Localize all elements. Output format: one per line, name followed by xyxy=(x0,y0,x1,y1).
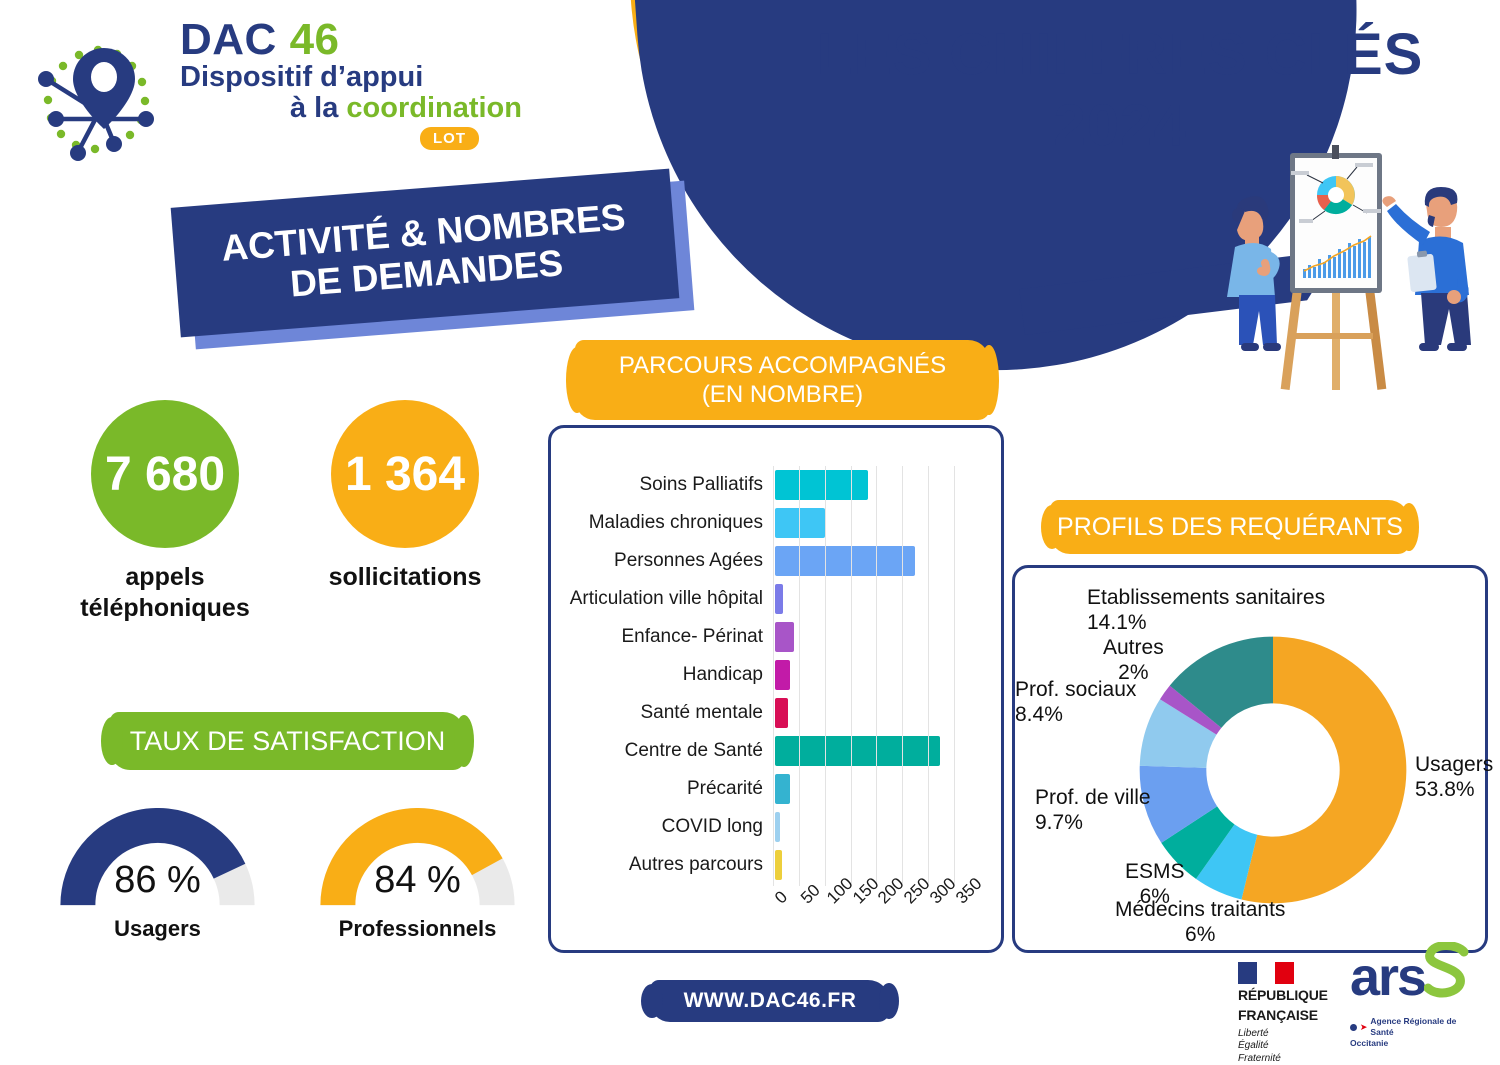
french-flag-icon xyxy=(1238,962,1294,984)
donut-label-value: 8.4% xyxy=(1015,703,1136,728)
bar-row: Enfance- Périnat xyxy=(561,618,959,656)
bar-fill xyxy=(775,546,915,576)
kpi-appels-value-circle: 7 680 xyxy=(91,400,239,548)
bar-category-label: Santé mentale xyxy=(561,702,775,724)
kpi-sollicitations-value: 1 364 xyxy=(345,447,465,502)
ars-arrow-icon: ➤ xyxy=(1360,1022,1368,1033)
satisfaction-banner-label: TAUX DE SATISFACTION xyxy=(130,726,446,757)
bar-fill xyxy=(775,736,940,766)
bar-row: Personnes Agées xyxy=(561,542,959,580)
x-axis-tick-label: 0 xyxy=(771,887,792,908)
kpi-appels-value: 7 680 xyxy=(105,447,225,502)
rf-motto: Liberté Égalité Fraternité xyxy=(1238,1028,1333,1065)
kpi-appels-caption-line-1: appels xyxy=(60,562,270,593)
bar-category-label: Articulation ville hôpital xyxy=(561,588,775,610)
logo-line-2: Dispositif d’appui xyxy=(180,62,540,93)
donut-label: Prof. de ville9.7% xyxy=(1035,786,1151,836)
gauge-usagers-label: Usagers xyxy=(60,916,255,942)
bar-category-label: Enfance- Périnat xyxy=(561,626,775,648)
kpi-sollicitations: 1 364 sollicitations xyxy=(300,400,510,593)
donut-label-value: 6% xyxy=(1115,923,1285,948)
bar-track xyxy=(775,622,959,652)
bar-fill xyxy=(775,584,783,614)
bar-track xyxy=(775,584,959,614)
donut-label: Usagers53.8% xyxy=(1415,753,1493,803)
bar-row: Handicap xyxy=(561,656,959,694)
ars-subtitle-line-1: Agence Régionale de Santé xyxy=(1370,1016,1480,1038)
parcours-bar-chart: Soins PalliatifsMaladies chroniquesPerso… xyxy=(561,466,959,884)
kpi-sollicitations-caption-line-1: sollicitations xyxy=(300,562,510,593)
donut-label-value: 53.8% xyxy=(1415,778,1493,803)
profils-chart-panel: Usagers53.8%Médecins traitants6%ESMS6%Pr… xyxy=(1012,565,1488,953)
x-axis-tick-label: 50 xyxy=(797,881,825,909)
logo-lot-badge: LOT xyxy=(420,127,479,150)
satisfaction-banner: TAUX DE SATISFACTION xyxy=(110,712,465,770)
donut-label-value: 14.1% xyxy=(1087,611,1325,636)
bar-row: Soins Palliatifs xyxy=(561,466,959,504)
bar-track xyxy=(775,812,959,842)
kpi-appels-caption: appels téléphoniques xyxy=(60,562,270,623)
bar-track xyxy=(775,508,959,538)
ars-logo: ars ➤ Agence Régionale de Santé Occitani… xyxy=(1350,960,1480,1049)
donut-label-value: 6% xyxy=(1125,885,1185,910)
logo-coordination-text: coordination xyxy=(346,92,522,124)
bar-row: Articulation ville hôpital xyxy=(561,580,959,618)
donut-label-name: Autres xyxy=(1103,636,1164,661)
kpi-sollicitations-caption: sollicitations xyxy=(300,562,510,593)
bar-track xyxy=(775,698,959,728)
bar-category-label: Handicap xyxy=(561,664,775,686)
bar-row: Maladies chroniques xyxy=(561,504,959,542)
logo-line-1: DAC 46 xyxy=(180,18,540,62)
bar-fill xyxy=(775,812,780,842)
bar-track xyxy=(775,660,959,690)
rf-motto-fraternite: Fraternité xyxy=(1238,1053,1333,1065)
bar-row: Précarité xyxy=(561,770,959,808)
donut-label: Autres2% xyxy=(1103,636,1164,686)
gauge-professionnels: 84 % Professionnels xyxy=(320,808,515,942)
gauge-usagers: 86 % Usagers xyxy=(60,808,255,942)
parcours-banner: PARCOURS ACCOMPAGNÉS (EN NOMBRE) xyxy=(575,340,990,420)
logo-line-3: à la coordination xyxy=(180,93,540,124)
activity-banner-label: ACTIVITÉ & NOMBRES DE DEMANDES xyxy=(220,196,630,310)
donut-label: Etablissements sanitaires14.1% xyxy=(1087,586,1325,636)
republique-francaise-logo: RÉPUBLIQUE FRANÇAISE Liberté Égalité Fra… xyxy=(1238,962,1333,1065)
bar-fill xyxy=(775,774,790,804)
logo-dac-text: DAC xyxy=(180,15,277,64)
website-url-badge[interactable]: WWW.DAC46.FR xyxy=(650,980,890,1022)
profils-banner-label: PROFILS DES REQUÉRANTS xyxy=(1057,513,1403,542)
donut-label-value: 9.7% xyxy=(1035,811,1151,836)
bar-fill xyxy=(775,622,794,652)
rf-name-line-1: RÉPUBLIQUE xyxy=(1238,988,1333,1004)
parcours-chart-x-axis: 050100150200250300350 xyxy=(773,890,959,945)
bar-fill xyxy=(775,508,825,538)
people-presenting-chart-illustration xyxy=(1195,145,1495,395)
bar-track xyxy=(775,546,959,576)
bar-row: Santé mentale xyxy=(561,694,959,732)
donut-label: ESMS6% xyxy=(1125,860,1185,910)
rf-name-line-2: FRANÇAISE xyxy=(1238,1008,1333,1024)
bar-category-label: Autres parcours xyxy=(561,854,775,876)
parcours-banner-line-2: (EN NOMBRE) xyxy=(619,380,946,409)
ars-s-glyph-icon xyxy=(1424,942,1470,1004)
bar-track xyxy=(775,774,959,804)
bar-category-label: Maladies chroniques xyxy=(561,512,775,534)
gauge-professionnels-value: 84 % xyxy=(320,859,515,902)
bar-fill xyxy=(775,698,788,728)
logo-ala-text: à la xyxy=(290,92,346,124)
ars-subtitle-line-2: Occitanie xyxy=(1350,1038,1480,1049)
parcours-banner-line-1: PARCOURS ACCOMPAGNÉS xyxy=(619,351,946,380)
bar-category-label: Centre de Santé xyxy=(561,740,775,762)
kpi-appels-caption-line-2: téléphoniques xyxy=(60,593,270,624)
page-title: LES CHIFFRES CLÉS 2024 xyxy=(800,20,1440,162)
bar-category-label: Soins Palliatifs xyxy=(561,474,775,496)
kpi-appels-telephoniques: 7 680 appels téléphoniques xyxy=(60,400,270,623)
bar-category-label: Précarité xyxy=(561,778,775,800)
bar-fill xyxy=(775,470,868,500)
gauge-professionnels-label: Professionnels xyxy=(320,916,515,942)
donut-label-name: Etablissements sanitaires xyxy=(1087,586,1325,611)
brand-wordmark: DAC 46 Dispositif d’appui à la coordinat… xyxy=(180,18,540,150)
donut-label-name: ESMS xyxy=(1125,860,1185,885)
bar-fill xyxy=(775,660,790,690)
profils-banner: PROFILS DES REQUÉRANTS xyxy=(1050,500,1410,554)
ars-wordmark: ars xyxy=(1350,946,1425,1008)
donut-label-value: 2% xyxy=(1103,661,1164,686)
bar-track xyxy=(775,470,959,500)
bar-fill xyxy=(775,850,782,880)
page-title-line-2: 2024 xyxy=(800,91,1440,162)
rf-motto-liberte: Liberté xyxy=(1238,1028,1333,1041)
parcours-banner-label: PARCOURS ACCOMPAGNÉS (EN NOMBRE) xyxy=(619,351,946,410)
ars-dot-icon xyxy=(1350,1024,1357,1031)
bar-category-label: COVID long xyxy=(561,816,775,838)
website-url-label: WWW.DAC46.FR xyxy=(684,989,857,1013)
logo-46-text: 46 xyxy=(290,15,340,64)
dac46-logo-icon xyxy=(18,22,178,172)
rf-motto-egalite: Égalité xyxy=(1238,1040,1333,1053)
kpi-sollicitations-value-circle: 1 364 xyxy=(331,400,479,548)
bar-row: Centre de Santé xyxy=(561,732,959,770)
gauge-usagers-value: 86 % xyxy=(60,859,255,902)
bar-track xyxy=(775,736,959,766)
bar-category-label: Personnes Agées xyxy=(561,550,775,572)
donut-label-name: Usagers xyxy=(1415,753,1493,778)
parcours-chart-panel: Soins PalliatifsMaladies chroniquesPerso… xyxy=(548,425,1004,953)
bar-row: COVID long xyxy=(561,808,959,846)
donut-label-name: Prof. de ville xyxy=(1035,786,1151,811)
page-title-line-1: LES CHIFFRES CLÉS xyxy=(800,20,1440,91)
